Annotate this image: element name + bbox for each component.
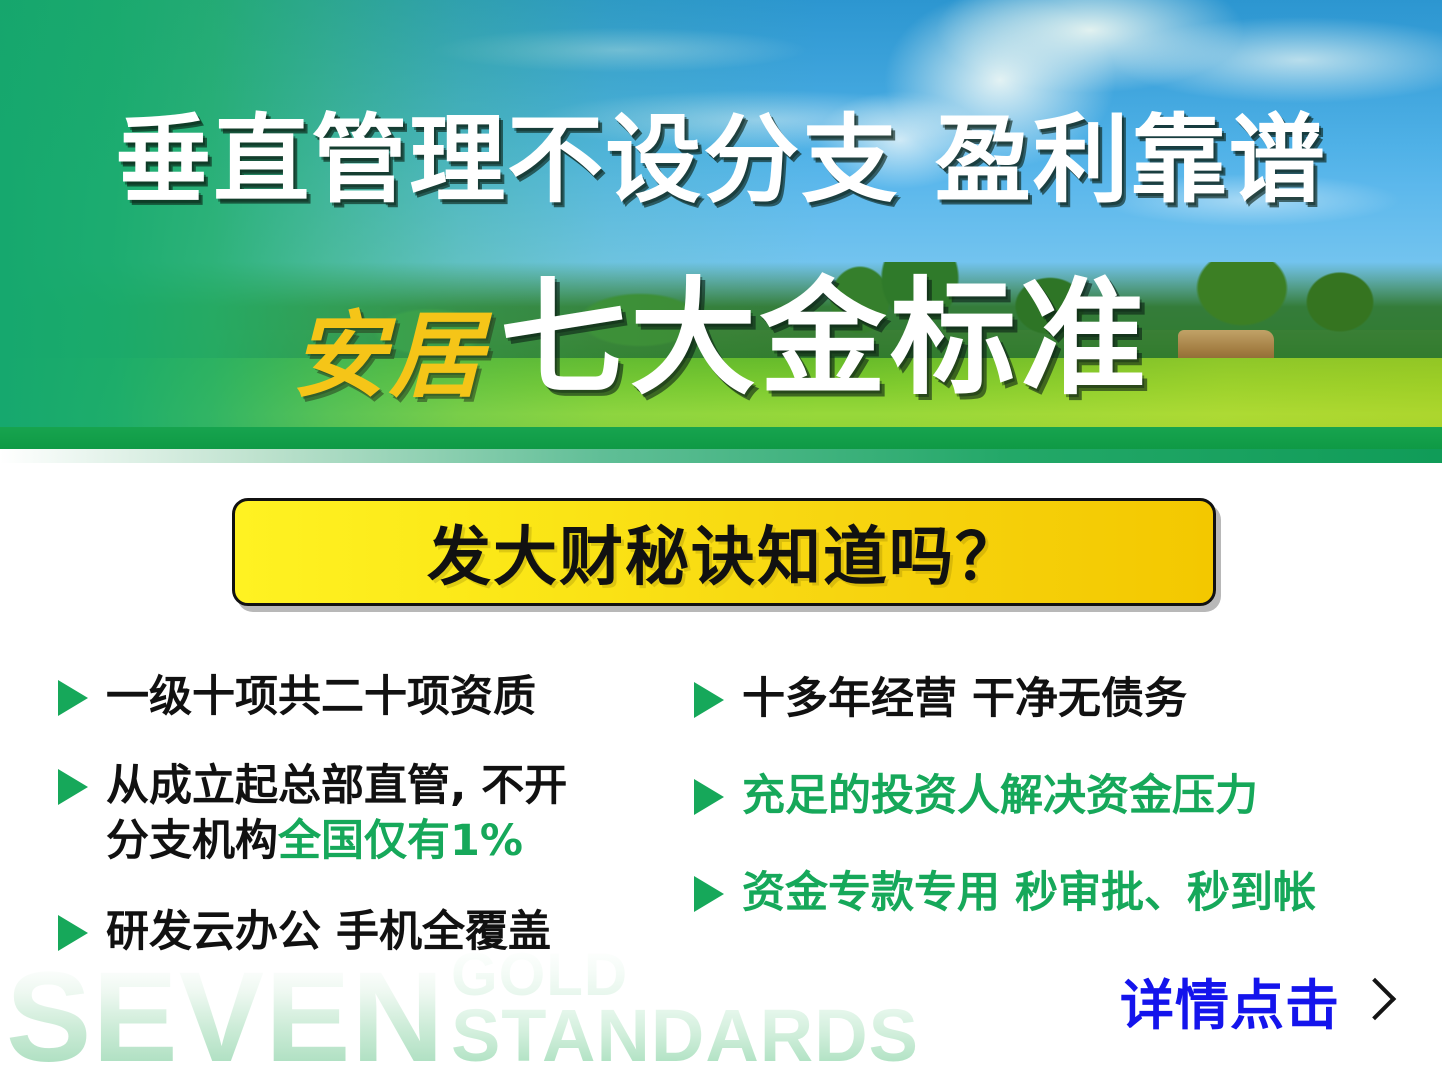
headline-callout-bar[interactable]: 发大财秘诀知道吗？ [232, 498, 1216, 606]
triangle-bullet-icon [58, 915, 88, 951]
details-cta-label: 详情点击 [1120, 961, 1340, 1040]
feature-label: 研发云办公 手机全覆盖 [106, 905, 551, 960]
chevron-right-icon [1354, 977, 1396, 1019]
hero-bottom-band [0, 427, 1442, 449]
features-section: 一级十项共二十项资质 从成立起总部直管, 不开 分支机构全国仅有1% 研发云办公… [0, 660, 1442, 990]
feature-item: 研发云办公 手机全覆盖 [58, 905, 698, 960]
feature-item: 充足的投资人解决资金压力 [694, 769, 1434, 824]
hero-headline-primary: 垂直管理不设分支 盈利靠谱 [0, 112, 1442, 208]
feature-label: 资金专款专用 秒审批、秒到帐 [742, 866, 1316, 921]
hero-section: 垂直管理不设分支 盈利靠谱 安居七大金标准 [0, 0, 1442, 463]
feature-label: 十多年经营 干净无债务 [742, 672, 1187, 727]
feature-label-line2-prefix: 分支机构 [106, 816, 278, 866]
hero-headline-secondary: 安居七大金标准 [0, 276, 1442, 403]
features-column-left: 一级十项共二十项资质 从成立起总部直管, 不开 分支机构全国仅有1% 研发云办公… [58, 660, 698, 984]
watermark-standards: STANDARDS [451, 1002, 919, 1066]
brand-tagline-white: 七大金标准 [500, 265, 1150, 412]
feature-item: 从成立起总部直管, 不开 分支机构全国仅有1% [58, 759, 698, 869]
feature-label: 一级十项共二十项资质 [106, 670, 536, 725]
details-cta[interactable]: 详情点击 [1120, 961, 1390, 1040]
feature-label: 充足的投资人解决资金压力 [742, 769, 1258, 824]
feature-label-highlight: 全国仅有1% [278, 816, 523, 866]
brand-name-gold: 安居 [292, 301, 486, 411]
headline-callout-text: 发大财秘诀知道吗？ [427, 506, 1021, 598]
promo-banner: 垂直管理不设分支 盈利靠谱 安居七大金标准 发大财秘诀知道吗？ 一级十项共二十项… [0, 0, 1442, 1066]
feature-item: 资金专款专用 秒审批、秒到帐 [694, 866, 1434, 921]
triangle-bullet-icon [58, 680, 88, 716]
hero-bottom-fade [0, 449, 1442, 463]
triangle-bullet-icon [694, 682, 724, 718]
triangle-bullet-icon [694, 779, 724, 815]
triangle-bullet-icon [694, 876, 724, 912]
feature-item: 一级十项共二十项资质 [58, 670, 698, 725]
feature-label-line1: 从成立起总部直管, 不开 [106, 761, 567, 811]
feature-item: 十多年经营 干净无债务 [694, 672, 1434, 727]
features-column-right: 十多年经营 干净无债务 充足的投资人解决资金压力 资金专款专用 秒审批、秒到帐 [694, 660, 1434, 945]
triangle-bullet-icon [58, 769, 88, 805]
feature-label: 从成立起总部直管, 不开 分支机构全国仅有1% [106, 759, 567, 869]
